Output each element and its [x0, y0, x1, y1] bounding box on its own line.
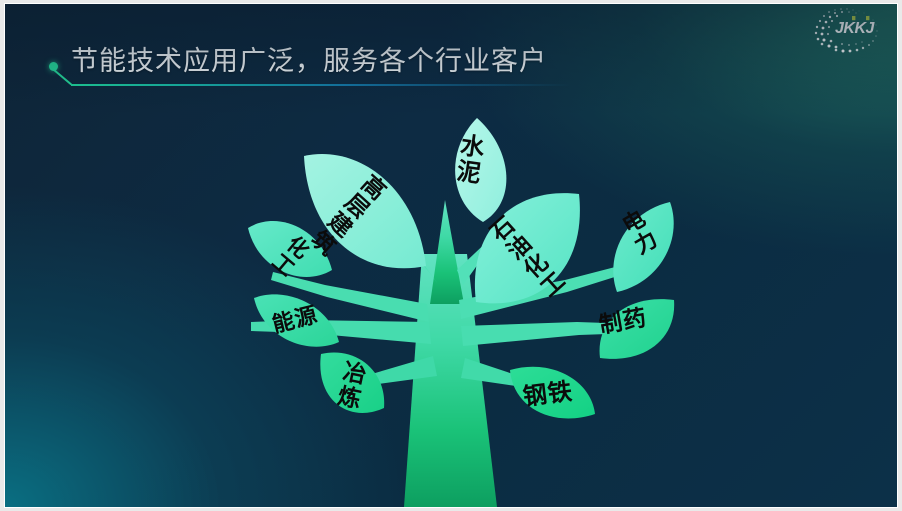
logo-wordmark: JKKJ: [835, 20, 874, 38]
slide-canvas: 水泥 高层建筑 石油化工 化工 电力 能源 制药 冶炼 钢铁 节能技术应用广泛，…: [5, 4, 897, 507]
logo: JKKJ: [809, 6, 883, 56]
title-underline-rule: [71, 84, 571, 86]
leaf-label-steel: 钢铁: [522, 379, 575, 410]
page-title: 节能技术应用广泛，服务各个行业客户: [71, 42, 547, 80]
